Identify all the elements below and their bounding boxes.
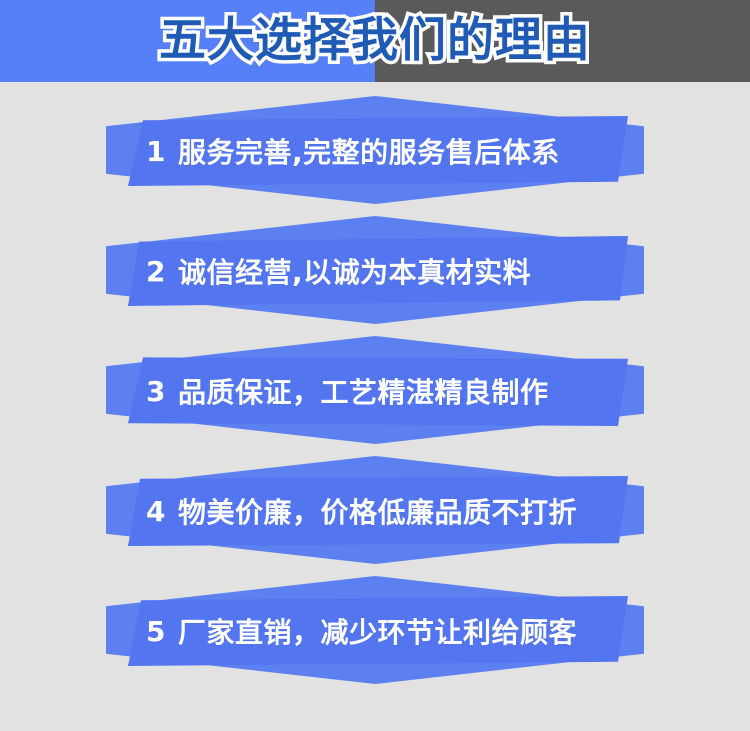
reason-number-1: 1 bbox=[146, 135, 166, 168]
reason-label-5: 厂家直销，减少环节让利给顾客 bbox=[178, 611, 577, 651]
list-item: 2 诚信经营,以诚为本真材实料 bbox=[0, 210, 750, 330]
reason-text-1: 1 服务完善,完整的服务售后体系 bbox=[128, 116, 628, 186]
reason-number-5: 5 bbox=[146, 615, 166, 648]
page-title: 五大选择我们的理由 bbox=[159, 17, 591, 64]
reason-label-2: 诚信经营,以诚为本真材实料 bbox=[178, 251, 531, 291]
reason-text-3: 3 品质保证，工艺精湛精良制作 bbox=[128, 356, 628, 426]
list-item: 1 服务完善,完整的服务售后体系 bbox=[0, 90, 750, 210]
reason-number-2: 2 bbox=[146, 255, 166, 288]
header-title-container: 五大选择我们的理由 bbox=[0, 0, 750, 82]
list-item: 3 品质保证，工艺精湛精良制作 bbox=[0, 330, 750, 450]
list-item: 5 厂家直销，减少环节让利给顾客 bbox=[0, 570, 750, 690]
reason-text-2: 2 诚信经营,以诚为本真材实料 bbox=[128, 236, 628, 306]
reason-label-4: 物美价廉，价格低廉品质不打折 bbox=[178, 491, 577, 531]
reason-number-3: 3 bbox=[146, 375, 166, 408]
reasons-list: 1 服务完善,完整的服务售后体系 2 诚信经营,以诚为本真材实料 3 品质保证，… bbox=[0, 82, 750, 690]
reason-text-5: 5 厂家直销，减少环节让利给顾客 bbox=[128, 596, 628, 666]
reason-label-3: 品质保证，工艺精湛精良制作 bbox=[178, 371, 549, 411]
reason-label-1: 服务完善,完整的服务售后体系 bbox=[178, 131, 560, 171]
reason-number-4: 4 bbox=[146, 495, 166, 528]
list-item: 4 物美价廉，价格低廉品质不打折 bbox=[0, 450, 750, 570]
page-header: 五大选择我们的理由 bbox=[0, 0, 750, 82]
reason-text-4: 4 物美价廉，价格低廉品质不打折 bbox=[128, 476, 628, 546]
